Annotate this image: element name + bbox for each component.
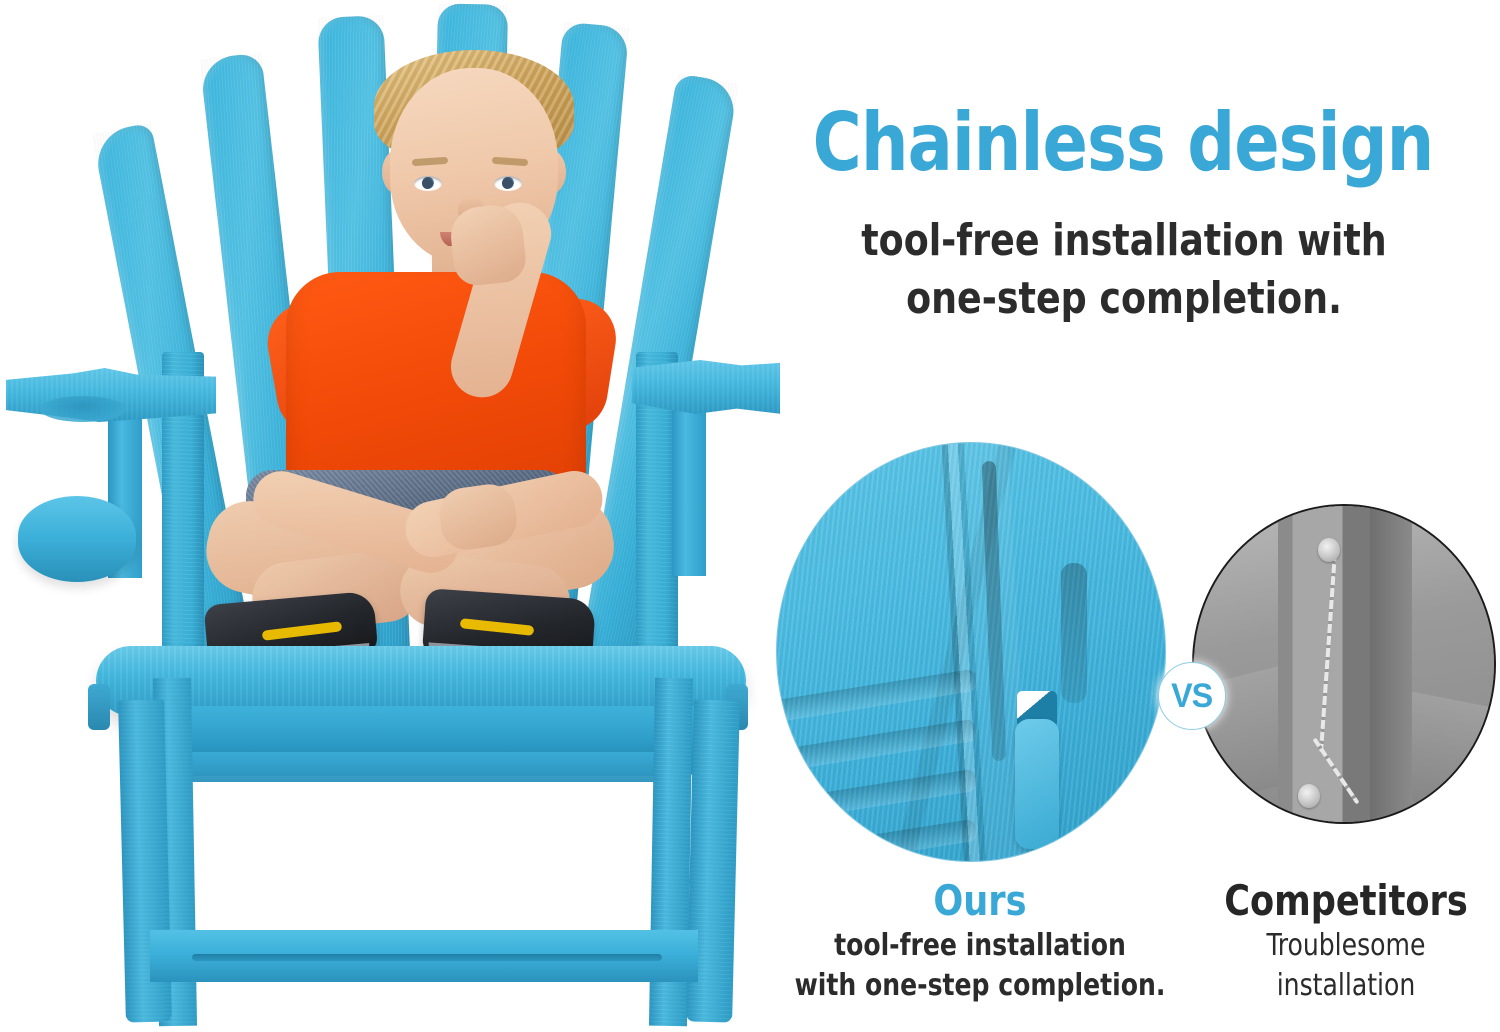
vs-label: VS bbox=[1171, 677, 1212, 716]
chair-bottom-stretcher bbox=[150, 930, 698, 982]
chain-screw-bottom bbox=[1298, 784, 1320, 808]
chair-cup-holder bbox=[18, 496, 136, 582]
chair-arm-support-right bbox=[672, 406, 706, 576]
ours-caption-block: Ours tool-free installation with one-ste… bbox=[780, 876, 1180, 1006]
hero-product-photo bbox=[0, 0, 780, 1032]
child-pupil-left bbox=[422, 178, 433, 189]
chair-cross-rail bbox=[160, 752, 690, 782]
page-subtitle: tool-free installation with one-step com… bbox=[817, 212, 1432, 328]
ours-notch-detail bbox=[1061, 563, 1087, 703]
ours-caption-line-2: with one-step completion. bbox=[794, 966, 1166, 1006]
child-pupil-right bbox=[502, 178, 513, 189]
child-hand-on-chin bbox=[448, 202, 528, 287]
subtitle-line-2: one-step completion. bbox=[817, 270, 1432, 328]
ours-caption-line-1: tool-free installation bbox=[794, 926, 1166, 966]
chair-hardware-knob-left bbox=[88, 684, 110, 730]
page-title: Chainless design bbox=[778, 100, 1468, 186]
product-marketing-image: Chainless design tool-free installation … bbox=[0, 0, 1500, 1032]
vs-badge: VS bbox=[1158, 662, 1226, 730]
competitor-post-edge bbox=[1370, 504, 1412, 824]
subtitle-line-1: tool-free installation with bbox=[817, 212, 1432, 270]
chain-screw-top bbox=[1318, 538, 1340, 562]
armrest-cup-recess bbox=[40, 396, 126, 422]
competitors-caption-line-2: installation bbox=[1207, 966, 1486, 1006]
competitors-caption-block: Competitors Troublesome installation bbox=[1196, 876, 1496, 1006]
ours-snap-tab bbox=[1015, 719, 1059, 849]
chair-armrest-right bbox=[632, 360, 780, 414]
ours-title: Ours bbox=[794, 876, 1166, 926]
stretcher-groove bbox=[192, 954, 662, 961]
ours-comparison-image bbox=[776, 442, 1166, 862]
competitors-title: Competitors bbox=[1207, 876, 1486, 926]
competitors-caption-line-1: Troublesome bbox=[1207, 926, 1486, 966]
competitors-comparison-image bbox=[1192, 504, 1496, 824]
